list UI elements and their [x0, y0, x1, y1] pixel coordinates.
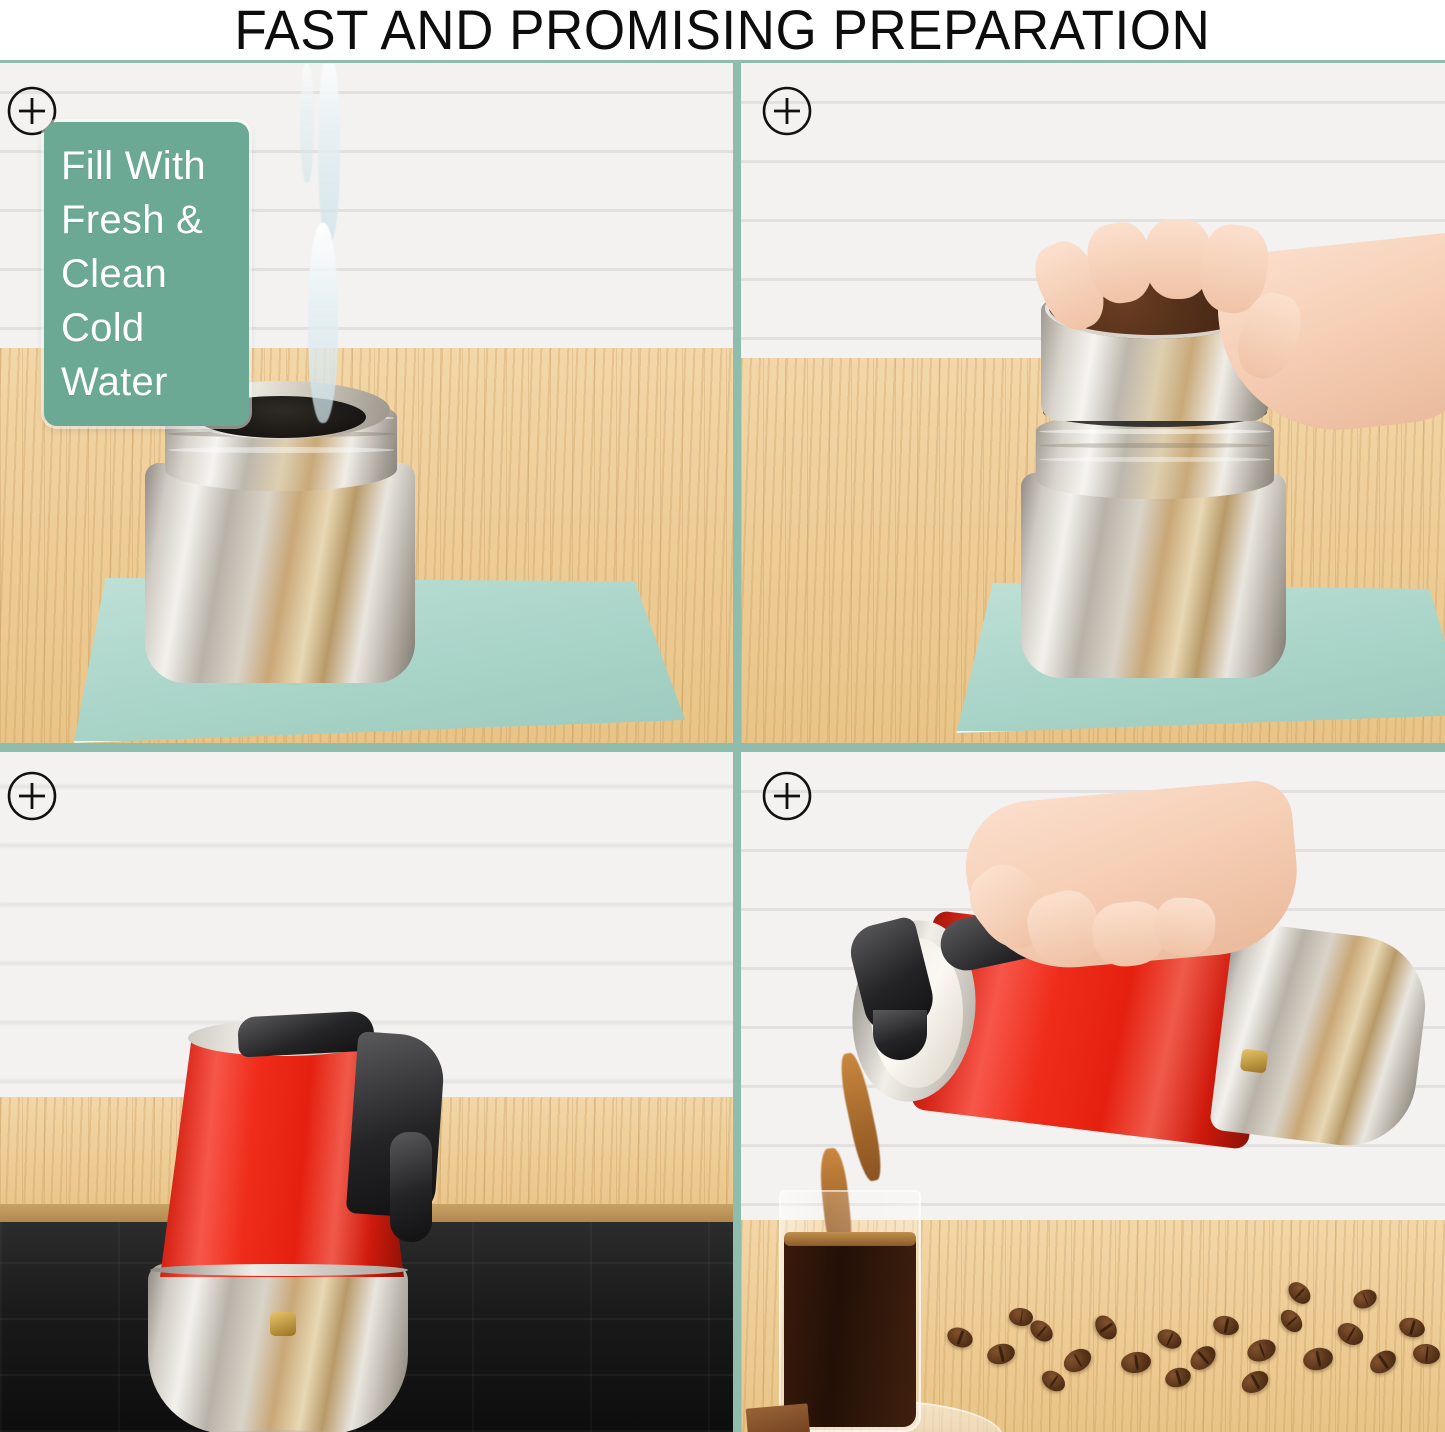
scene-fill-funnel [741, 63, 1445, 743]
coffee-glass [779, 1190, 921, 1432]
step-panel-3[interactable]: Place On Your Stove/ Induction And Brew … [0, 752, 733, 1432]
step-1-caption-card: Fill With Fresh & Clean Cold Water [44, 122, 249, 426]
moka-pot-base [148, 1264, 408, 1432]
moka-base-body [145, 463, 415, 683]
step-panel-4[interactable]: Pour Aromatic & Rich Coffee And Simply E… [741, 752, 1445, 1432]
step-panel-1[interactable]: Fill With Fresh & Clean Cold Water [0, 63, 733, 743]
safety-valve [270, 1312, 296, 1336]
infographic-page: FAST AND PROMISING PREPARATION [0, 0, 1445, 1432]
safety-valve [1240, 1048, 1268, 1073]
plus-circle-icon[interactable] [761, 85, 813, 137]
step-panel-2[interactable]: Fill The Funnel With Amount of Ground Co… [741, 63, 1445, 743]
moka-base-body [1021, 473, 1286, 678]
scene-brew-on-stove [0, 752, 733, 1432]
chocolate-piece [746, 1403, 811, 1432]
lid-knob [237, 1010, 375, 1057]
title-bar: FAST AND PROMISING PREPARATION [0, 0, 1445, 60]
step-1-caption-text: Fill With Fresh & Clean Cold Water [61, 139, 235, 409]
steps-grid: Fill With Fresh & Clean Cold Water [0, 60, 1445, 1432]
water-stream [318, 63, 340, 243]
moka-pot-base [1209, 921, 1433, 1154]
plus-circle-icon[interactable] [761, 770, 813, 822]
page-title: FAST AND PROMISING PREPARATION [235, 2, 1211, 58]
plus-circle-icon[interactable] [6, 770, 58, 822]
scene-pour-coffee [741, 752, 1445, 1432]
